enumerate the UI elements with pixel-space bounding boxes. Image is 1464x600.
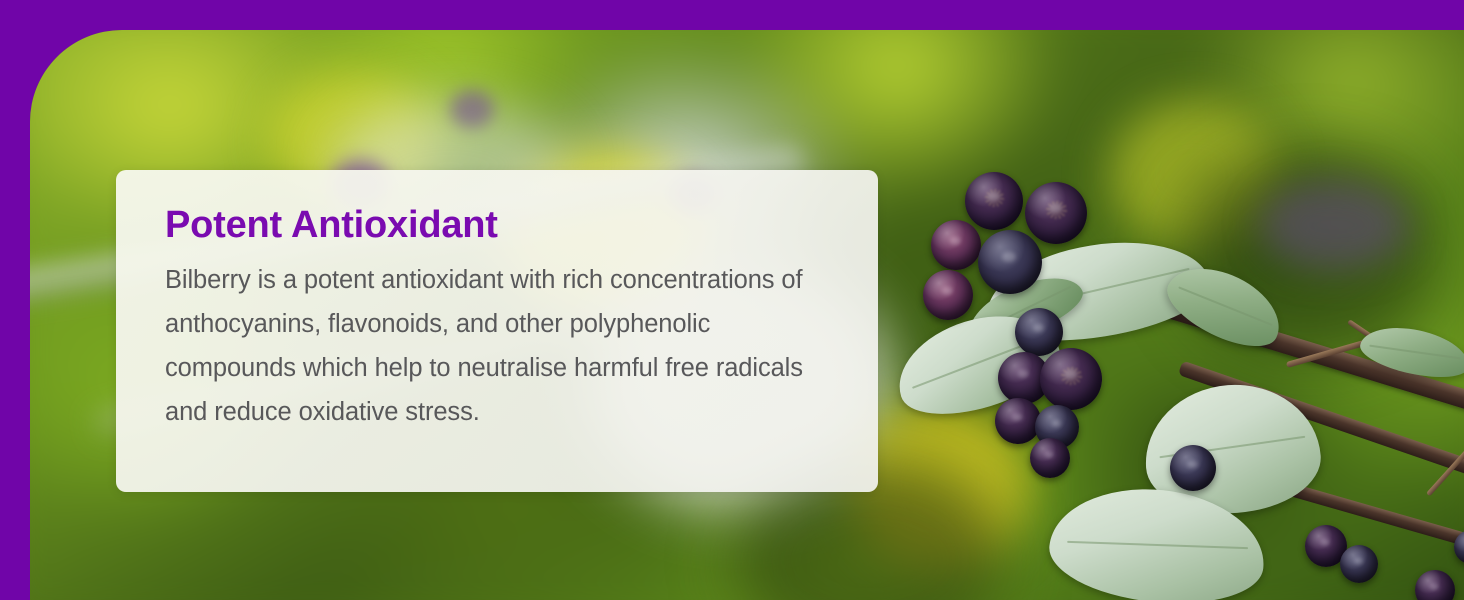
berry: [1170, 445, 1216, 491]
info-card: Potent Antioxidant Bilberry is a potent …: [116, 170, 878, 492]
bilberry-photo: Potent Antioxidant Bilberry is a potent …: [30, 30, 1464, 600]
berry: [978, 230, 1042, 294]
berry: [931, 220, 981, 270]
bokeh-berry-blur: [1260, 180, 1410, 270]
page-title: Potent Antioxidant: [165, 202, 838, 248]
berry: [995, 398, 1041, 444]
promo-banner: Potent Antioxidant Bilberry is a potent …: [0, 0, 1464, 600]
berry: [1040, 348, 1102, 410]
bokeh-berry-blur: [450, 90, 494, 128]
berry: [965, 172, 1023, 230]
berry: [1015, 308, 1063, 356]
berry: [923, 270, 973, 320]
berry: [1340, 545, 1378, 583]
berry: [1025, 182, 1087, 244]
berry: [1030, 438, 1070, 478]
card-description: Bilberry is a potent antioxidant with ri…: [165, 258, 837, 434]
